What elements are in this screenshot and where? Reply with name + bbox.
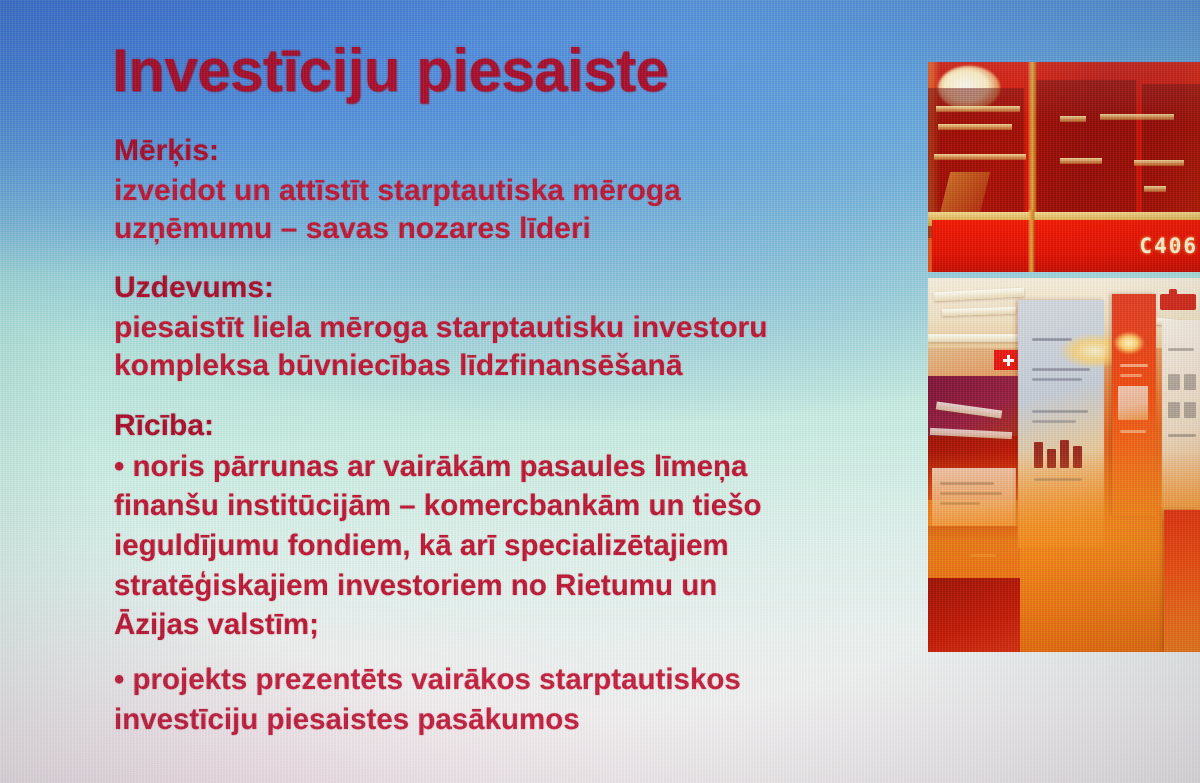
rollup-text-2 — [1032, 368, 1090, 371]
poster-right-box-1 — [1168, 374, 1180, 390]
slide-title: Investīciju piesaiste — [112, 36, 668, 105]
booth-shelf-3 — [934, 154, 1026, 160]
slide-photo-of-projection: Investīciju piesaiste Mērķis: izveidot u… — [0, 0, 1200, 783]
section-merkis-heading: Mērķis: — [114, 133, 681, 170]
section-riciba-bullet-1-line-2: finanšu institūcijām – komercbankām un t… — [114, 486, 762, 526]
slide-text-column: Investīciju piesaiste Mērķis: izveidot u… — [0, 0, 930, 783]
rollup-text-5 — [1032, 420, 1076, 423]
stand-counter-front — [928, 578, 1020, 652]
poster-right-box-4 — [1184, 402, 1196, 418]
rollup-text-4 — [1032, 410, 1088, 413]
booth-shelf-7 — [1134, 160, 1184, 166]
section-riciba-bullet-1-line-3: ieguldījumu fondiem, kā arī specializēta… — [114, 526, 762, 566]
section-merkis: Mērķis: izveidot un attīstīt starptautis… — [114, 133, 681, 248]
poster-right-text-2 — [1168, 434, 1196, 437]
booth-banner-stand-number: C406 — [1139, 234, 1200, 258]
section-riciba: Rīcība: • noris pārrunas ar vairākām pas… — [114, 408, 762, 645]
booth-shelf-2 — [938, 124, 1012, 130]
stand-logo-sign — [1160, 294, 1196, 310]
poster-right-box-2 — [1184, 374, 1196, 390]
section-riciba-bullet-2: • projekts prezentēts vairākos starptaut… — [114, 660, 741, 740]
section-riciba-bullet-1-line-4: stratēģiskajiem investoriem no Rietumu u… — [114, 566, 762, 606]
section-merkis-line-1: izveidot un attīstīt starptautiska mērog… — [114, 172, 681, 210]
section-uzdevums-line-1: piesaistīt liela mēroga starptautisku in… — [114, 309, 768, 347]
booth-pole-lower — [1028, 210, 1035, 272]
red-rollup-text-2 — [1120, 374, 1142, 377]
red-rollup-glare — [1114, 332, 1144, 354]
section-uzdevums-heading: Uzdevums: — [114, 270, 768, 307]
stand-right-pillar — [1164, 510, 1200, 652]
section-merkis-line-2: uzņēmumu – savas nozares līderi — [114, 210, 681, 248]
section-riciba-bullet-1-line-1: • noris pārrunas ar vairākām pasaules lī… — [114, 447, 762, 487]
section-riciba-bullet-1-line-5: Āzijas valstīm; — [114, 605, 762, 645]
section-riciba-bullet-2-line-1: • projekts prezentēts vairākos starptaut… — [114, 660, 741, 700]
trade-fair-stand-photo — [928, 278, 1200, 652]
booth-shelf-5 — [1100, 114, 1174, 120]
poster-right-box-3 — [1168, 402, 1180, 418]
red-rollup-text-1 — [1120, 364, 1148, 367]
red-rollup-text-3 — [1120, 430, 1146, 433]
booth-shelf-4 — [1060, 116, 1086, 122]
poster-right-text-1 — [1168, 348, 1194, 351]
section-uzdevums-line-2: kompleksa būvniecības līdzfinansēšanā — [114, 347, 768, 385]
section-riciba-bullet-2-line-2: investīciju piesaistes pasākumos — [114, 700, 741, 740]
section-uzdevums: Uzdevums: piesaistīt liela mēroga starpt… — [114, 270, 768, 385]
red-exhibition-booth-photo: C406 — [928, 62, 1200, 272]
booth-shelf-6 — [1060, 158, 1102, 164]
red-rollup-image — [1118, 386, 1148, 420]
booth-shelf-8 — [1144, 186, 1166, 192]
booth-red-banner: C406 — [932, 220, 1200, 272]
rollup-text-3 — [1032, 378, 1082, 381]
section-riciba-heading: Rīcība: — [114, 408, 762, 445]
booth-shelf-1 — [936, 106, 1020, 112]
